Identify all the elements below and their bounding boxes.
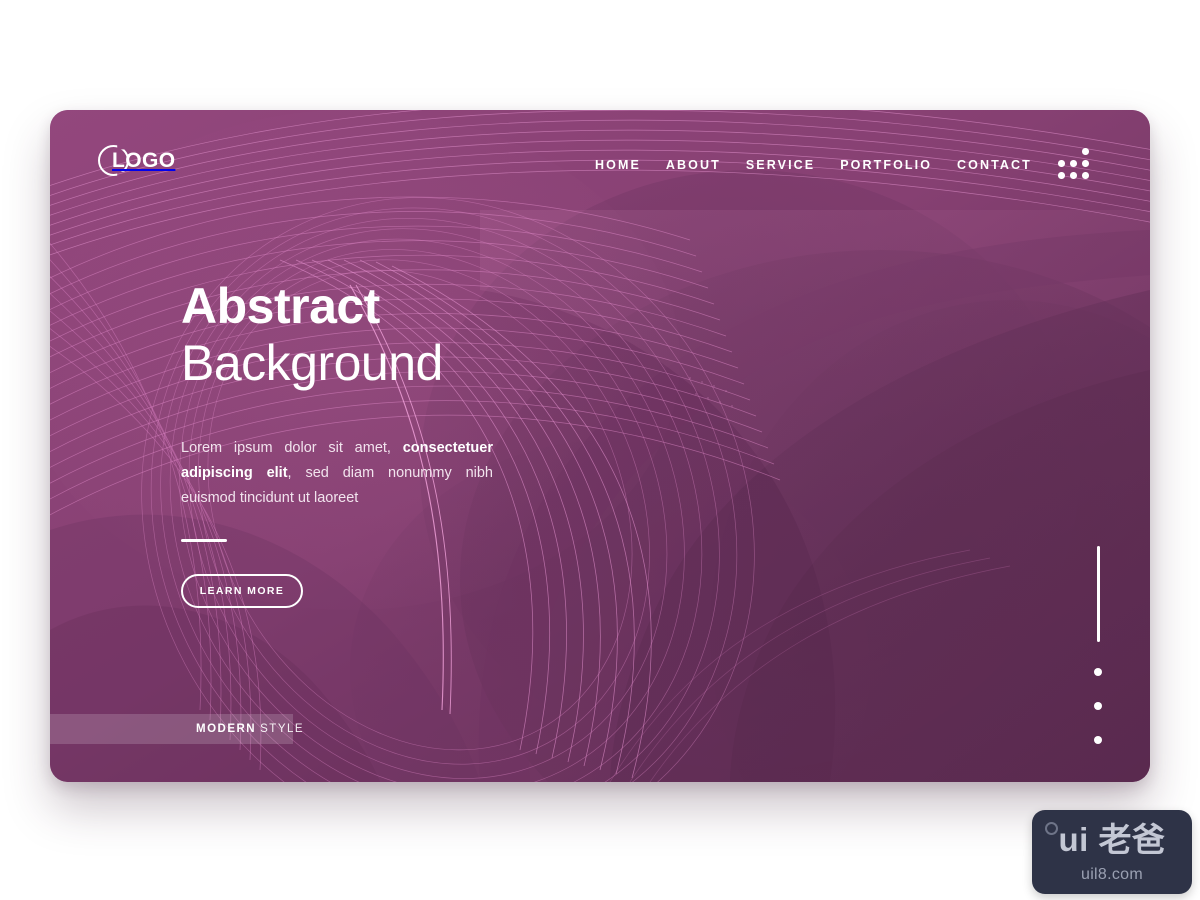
grid-dot xyxy=(1082,148,1089,155)
slide-indicator-active[interactable] xyxy=(1097,546,1100,642)
hero-content: Abstract Background Lorem ipsum dolor si… xyxy=(181,280,541,608)
grid-dot xyxy=(1058,172,1065,179)
watermark-badge: ui 老爸 uil8.com xyxy=(1032,810,1192,894)
nav-item-portfolio[interactable]: PORTFOLIO xyxy=(840,158,932,172)
hero-paragraph-part1: Lorem ipsum dolor sit amet, xyxy=(181,440,403,456)
nav-item-home[interactable]: HOME xyxy=(595,158,641,172)
main-navigation: HOME ABOUT SERVICE PORTFOLIO CONTACT xyxy=(595,110,1032,220)
brand-logo[interactable]: LOGO xyxy=(98,143,161,179)
slide-indicator-dot-1[interactable] xyxy=(1094,668,1102,676)
style-bar-label: MODERN STYLE xyxy=(196,714,304,744)
nav-item-service[interactable]: SERVICE xyxy=(746,158,815,172)
grid-dot xyxy=(1058,160,1065,167)
nav-item-contact[interactable]: CONTACT xyxy=(957,158,1032,172)
style-bar-label-strong: MODERN xyxy=(196,723,256,735)
grid-dots-icon[interactable] xyxy=(1058,151,1092,179)
site-header: LOGO HOME ABOUT SERVICE PORTFOLIO CONTAC… xyxy=(50,110,1150,220)
brand-logo-text: LOGO xyxy=(112,149,175,173)
watermark-title: ui 老爸 xyxy=(1032,823,1192,856)
grid-dot xyxy=(1082,160,1089,167)
style-bar-label-light: STYLE xyxy=(260,723,304,735)
grid-dot xyxy=(1070,172,1077,179)
slide-indicator-dot-2[interactable] xyxy=(1094,702,1102,710)
hero-title-line1: Abstract xyxy=(181,280,541,333)
hero-title-line2: Background xyxy=(181,335,541,392)
slide-indicator-dot-3[interactable] xyxy=(1094,736,1102,744)
hero-card: LOGO HOME ABOUT SERVICE PORTFOLIO CONTAC… xyxy=(50,110,1150,782)
hero-paragraph: Lorem ipsum dolor sit amet, consectetuer… xyxy=(181,436,493,511)
modern-style-bar: MODERN STYLE xyxy=(50,714,1150,744)
grid-dot xyxy=(1082,172,1089,179)
nav-item-about[interactable]: ABOUT xyxy=(666,158,721,172)
hero-divider xyxy=(181,539,227,542)
grid-dot xyxy=(1070,160,1077,167)
learn-more-button[interactable]: LEARN MORE xyxy=(181,574,303,608)
watermark-subtitle: uil8.com xyxy=(1032,866,1192,884)
slide-indicator xyxy=(1094,546,1102,744)
